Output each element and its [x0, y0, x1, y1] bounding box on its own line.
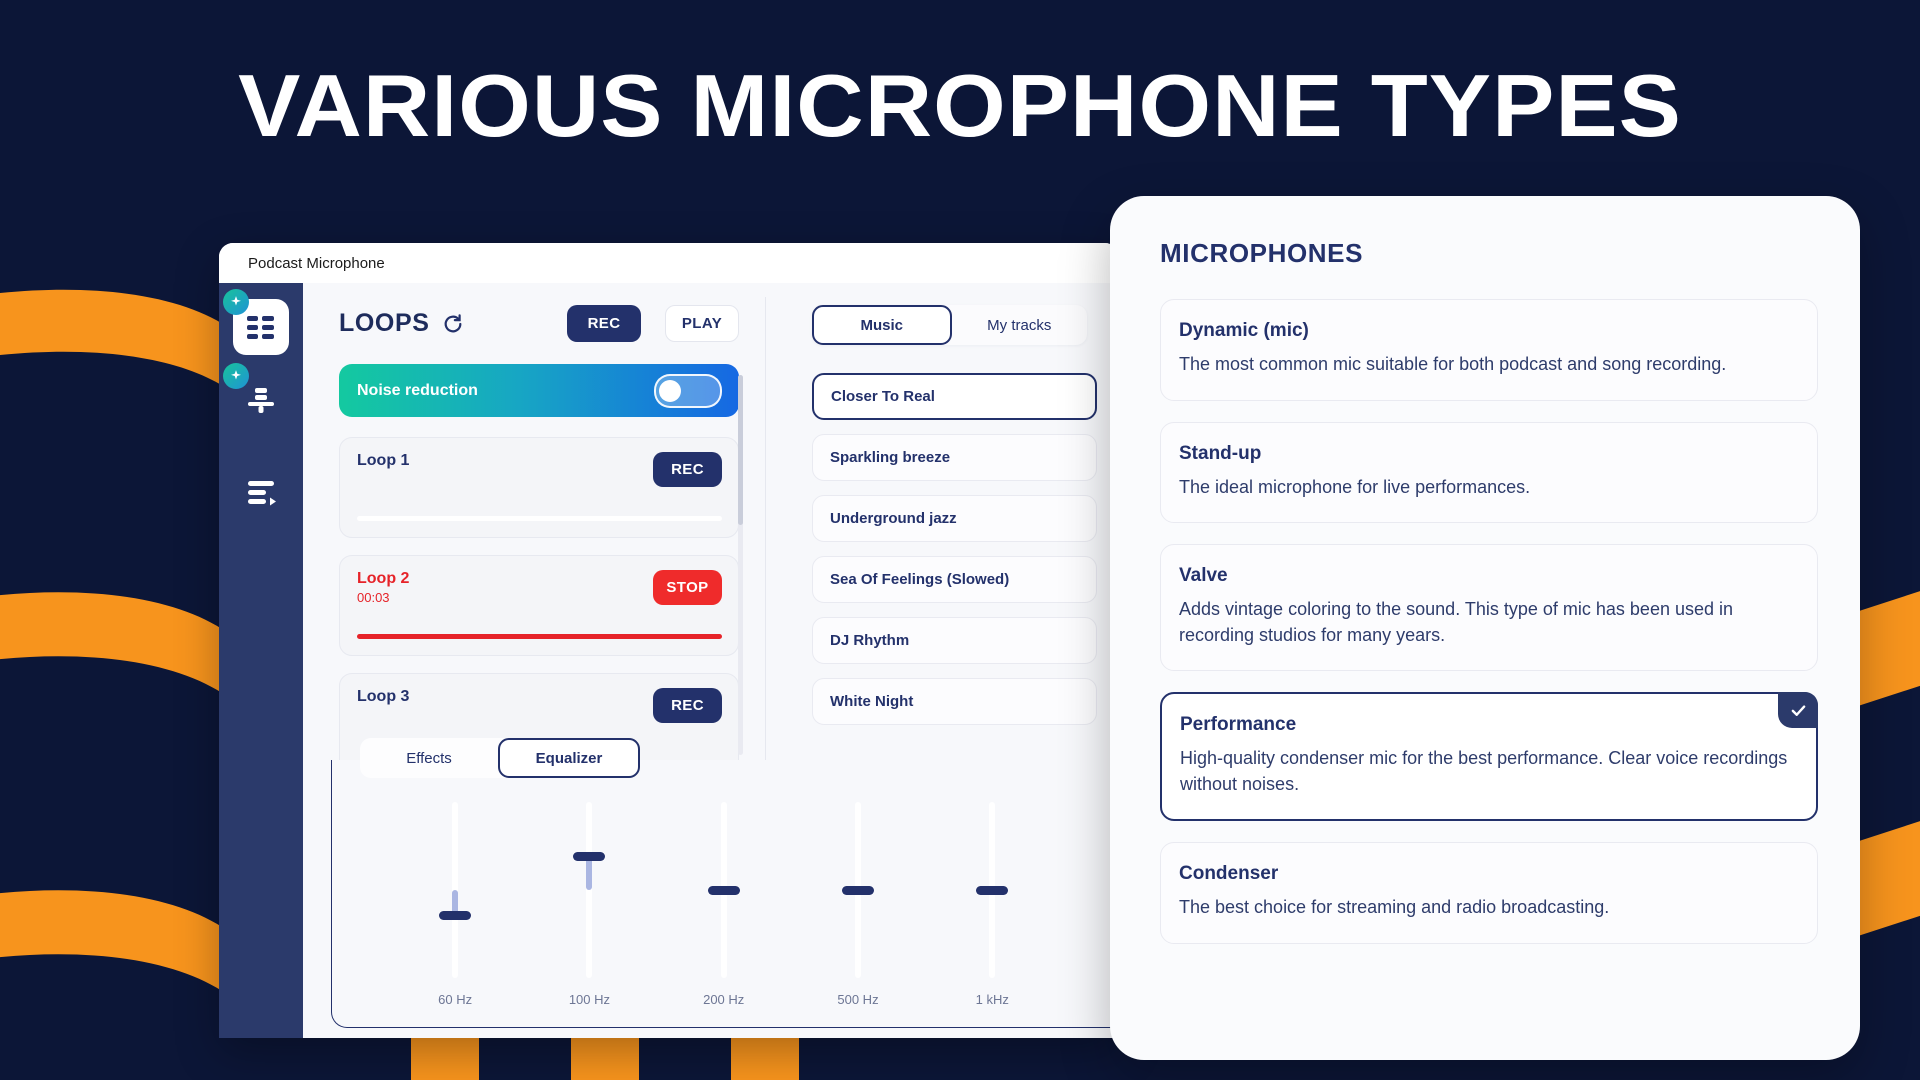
microphone-card[interactable]: Stand-up The ideal microphone for live p…: [1160, 422, 1818, 524]
equalizer-band[interactable]: 200 Hz: [657, 802, 791, 1011]
sidebar-item-playlist[interactable]: [233, 465, 289, 521]
window-titlebar: Podcast Microphone: [219, 243, 1119, 283]
noise-reduction-toggle[interactable]: [654, 374, 722, 408]
window-title: Podcast Microphone: [248, 255, 385, 272]
loop-card[interactable]: Loop 2 00:03 STOP: [339, 555, 739, 656]
equalizer-knob[interactable]: [976, 886, 1008, 895]
microphone-card[interactable]: Valve Adds vintage coloring to the sound…: [1160, 544, 1818, 671]
sidebar-item-grid[interactable]: [233, 299, 289, 355]
equalizer-rail[interactable]: [452, 802, 458, 978]
track-item[interactable]: Sea Of Feelings (Slowed): [812, 556, 1097, 603]
microphone-card-selected[interactable]: Performance High-quality condenser mic f…: [1160, 692, 1818, 821]
sparkle-icon: [223, 289, 249, 315]
loop-name: Loop 1: [357, 452, 409, 470]
sidebar: [219, 283, 303, 1038]
tab-effects[interactable]: Effects: [360, 738, 498, 778]
microphone-description: High-quality condenser mic for the best …: [1180, 746, 1790, 797]
microphone-description: Adds vintage coloring to the sound. This…: [1179, 597, 1791, 648]
equalizer-frequency-label: 60 Hz: [438, 992, 472, 1007]
track-item[interactable]: DJ Rhythm: [812, 617, 1097, 664]
loop-action-button[interactable]: REC: [653, 688, 722, 723]
microphone-description: The ideal microphone for live performanc…: [1179, 475, 1791, 501]
microphone-name: Performance: [1180, 714, 1790, 736]
scrollbar-thumb[interactable]: [738, 375, 743, 525]
loop-action-button[interactable]: REC: [653, 452, 722, 487]
equalizer-band[interactable]: 1 kHz: [925, 802, 1059, 1011]
loop-waveform: [357, 516, 722, 521]
track-item[interactable]: White Night: [812, 678, 1097, 725]
equalizer-band[interactable]: 60 Hz: [388, 802, 522, 1011]
equalizer-frequency-label: 100 Hz: [569, 992, 610, 1007]
tab-music[interactable]: Music: [812, 305, 952, 345]
rec-button[interactable]: REC: [567, 305, 641, 342]
page-title: VARIOUS MICROPHONE TYPES: [0, 60, 1920, 152]
microphones-panel: MICROPHONES Dynamic (mic) The most commo…: [1110, 196, 1860, 1060]
playlist-icon: [246, 479, 276, 507]
equalizer-knob[interactable]: [573, 852, 605, 861]
loop-action-button[interactable]: STOP: [653, 570, 722, 605]
equalizer-rail[interactable]: [586, 802, 592, 978]
music-tabs: Music My tracks: [812, 305, 1087, 345]
equalizer-knob[interactable]: [842, 886, 874, 895]
loop-name: Loop 2: [357, 570, 409, 588]
play-button[interactable]: PLAY: [665, 305, 739, 342]
tab-my-tracks[interactable]: My tracks: [952, 305, 1088, 345]
loops-title: LOOPS: [339, 309, 430, 338]
download-icon: [246, 386, 276, 416]
microphone-name: Dynamic (mic): [1179, 320, 1791, 342]
equalizer-knob[interactable]: [439, 911, 471, 920]
equalizer-fill: [586, 857, 592, 890]
equalizer-frequency-label: 1 kHz: [976, 992, 1009, 1007]
track-item[interactable]: Underground jazz: [812, 495, 1097, 542]
equalizer-rail[interactable]: [855, 802, 861, 978]
loop-card[interactable]: Loop 1 REC: [339, 437, 739, 538]
microphone-name: Stand-up: [1179, 443, 1791, 465]
microphone-description: The most common mic suitable for both po…: [1179, 352, 1791, 378]
noise-reduction-row: Noise reduction: [339, 364, 739, 417]
microphone-name: Valve: [1179, 565, 1791, 587]
noise-reduction-label: Noise reduction: [357, 382, 654, 400]
track-item[interactable]: Closer To Real: [812, 373, 1097, 420]
equalizer-frequency-label: 200 Hz: [703, 992, 744, 1007]
sidebar-item-download[interactable]: [233, 373, 289, 429]
microphone-description: The best choice for streaming and radio …: [1179, 895, 1791, 921]
microphone-name: Condenser: [1179, 863, 1791, 885]
loop-waveform: [357, 634, 722, 639]
microphones-heading: MICROPHONES: [1160, 238, 1818, 269]
equalizer-knob[interactable]: [708, 886, 740, 895]
equalizer-rail[interactable]: [721, 802, 727, 978]
screen-root: VARIOUS MICROPHONE TYPES Podcast Microph…: [0, 0, 1920, 1080]
music-scrollbar[interactable]: [738, 375, 743, 755]
toggle-knob: [659, 380, 681, 402]
loop-time: 00:03: [357, 590, 409, 605]
sparkle-icon: [223, 363, 249, 389]
equalizer-band[interactable]: 500 Hz: [791, 802, 925, 1011]
effects-tabs: Effects Equalizer: [360, 738, 640, 778]
loop-name: Loop 3: [357, 688, 409, 706]
loops-header: LOOPS REC PLAY: [339, 305, 739, 342]
microphone-card[interactable]: Dynamic (mic) The most common mic suitab…: [1160, 299, 1818, 401]
equalizer-band[interactable]: 100 Hz: [522, 802, 656, 1011]
equalizer-frequency-label: 500 Hz: [837, 992, 878, 1007]
reload-icon[interactable]: [442, 313, 464, 335]
microphone-card[interactable]: Condenser The best choice for streaming …: [1160, 842, 1818, 944]
track-item[interactable]: Sparkling breeze: [812, 434, 1097, 481]
tab-equalizer[interactable]: Equalizer: [498, 738, 640, 778]
check-icon: [1778, 692, 1818, 728]
grid-icon: [246, 314, 276, 340]
equalizer-rail[interactable]: [989, 802, 995, 978]
